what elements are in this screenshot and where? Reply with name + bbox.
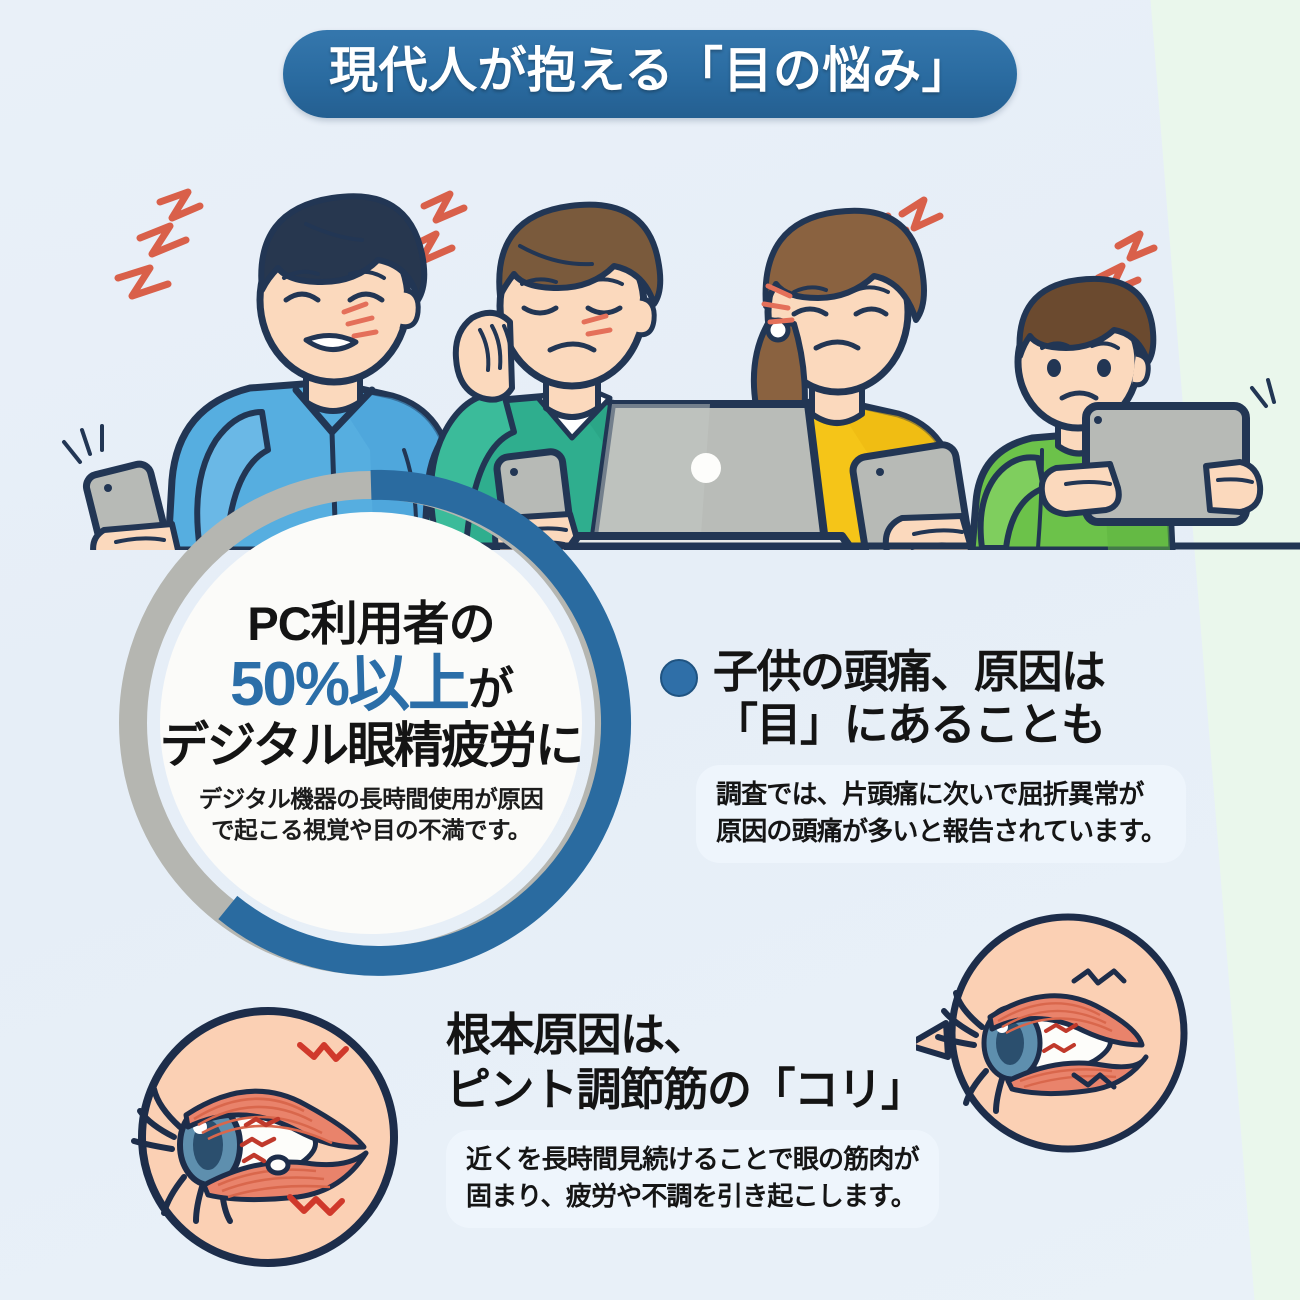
pain-bolts-left <box>118 192 200 296</box>
bottom-heading-line-2: ピント調節筋の「コリ」 <box>446 1063 1146 1118</box>
right-heading-text: 子供の頭痛、原因は 「目」にあることも <box>713 645 1105 751</box>
title-banner: 現代人が抱える「目の悩み」 <box>0 30 1300 118</box>
right-caption-box: 調査では、片頭痛に次いで屈折異常が 原因の頭痛が多いと報告されています。 <box>696 765 1186 863</box>
stat-donut-chart: PC利用者の 50%以上が デジタル眼精疲労に デジタル機器の長時間使用が原因 … <box>106 458 636 988</box>
bottom-text-block: 根本原因は、 ピント調節筋の「コリ」 近くを長時間見続けることで眼の筋肉が 固ま… <box>446 1008 1146 1228</box>
donut-line-3: デジタル眼精疲労に <box>160 720 582 773</box>
right-text-block: 子供の頭痛、原因は 「目」にあることも 調査では、片頭痛に次いで屈折異常が 原因… <box>660 645 1260 863</box>
eye-anatomy-large: .eo{fill:none;stroke:#1d2d4a;stroke-widt… <box>118 1005 418 1275</box>
right-heading-line-1: 子供の頭痛、原因は <box>713 645 1105 698</box>
bottom-caption-line-1: 近くを長時間見続けることで眼の筋肉が <box>466 1141 919 1178</box>
donut-caption-line-1: デジタル機器の長時間使用が原因 <box>199 784 544 815</box>
bullet-dot-icon <box>660 659 698 697</box>
bottom-caption-line-2: 固まり、疲労や不調を引き起こします。 <box>466 1178 919 1215</box>
screen-glare-marks <box>64 426 102 462</box>
donut-line-1: PC利用者の <box>247 599 494 650</box>
page-title: 現代人が抱える「目の悩み」 <box>329 45 971 99</box>
bottom-caption-box: 近くを長時間見続けることで眼の筋肉が 固まり、疲労や不調を引き起こします。 <box>446 1130 939 1228</box>
donut-caption: デジタル機器の長時間使用が原因 で起こる視覚や目の不満です。 <box>199 784 544 847</box>
right-caption-line-1: 調査では、片頭痛に次いで屈折異常が <box>716 776 1166 813</box>
right-heading: 子供の頭痛、原因は 「目」にあることも <box>660 645 1260 751</box>
infographic-poster: 現代人が抱える「目の悩み」 .ln{fill:none;stroke:#2236… <box>0 0 1300 1300</box>
bottom-heading: 根本原因は、 ピント調節筋の「コリ」 <box>446 1008 1146 1118</box>
right-heading-line-2: 「目」にあることも <box>713 698 1105 751</box>
right-caption-line-2: 原因の頭痛が多いと報告されています。 <box>716 813 1166 850</box>
donut-value-suffix: が <box>468 663 512 715</box>
hand-rubbing-eye <box>456 313 512 400</box>
bottom-heading-line-1: 根本原因は、 <box>446 1008 1146 1063</box>
donut-caption-line-2: で起こる視覚や目の不満です。 <box>199 815 544 846</box>
laptop-logo <box>691 453 721 483</box>
screen-glare-marks-boy <box>1252 380 1274 406</box>
title-pill: 現代人が抱える「目の悩み」 <box>283 30 1017 118</box>
figure-boy-green-shirt <box>972 279 1274 550</box>
donut-value: 50%以上 <box>230 650 468 719</box>
donut-center-content: PC利用者の 50%以上が デジタル眼精疲労に デジタル機器の長時間使用が原因 … <box>160 512 582 934</box>
donut-value-line: 50%以上が <box>230 652 512 718</box>
